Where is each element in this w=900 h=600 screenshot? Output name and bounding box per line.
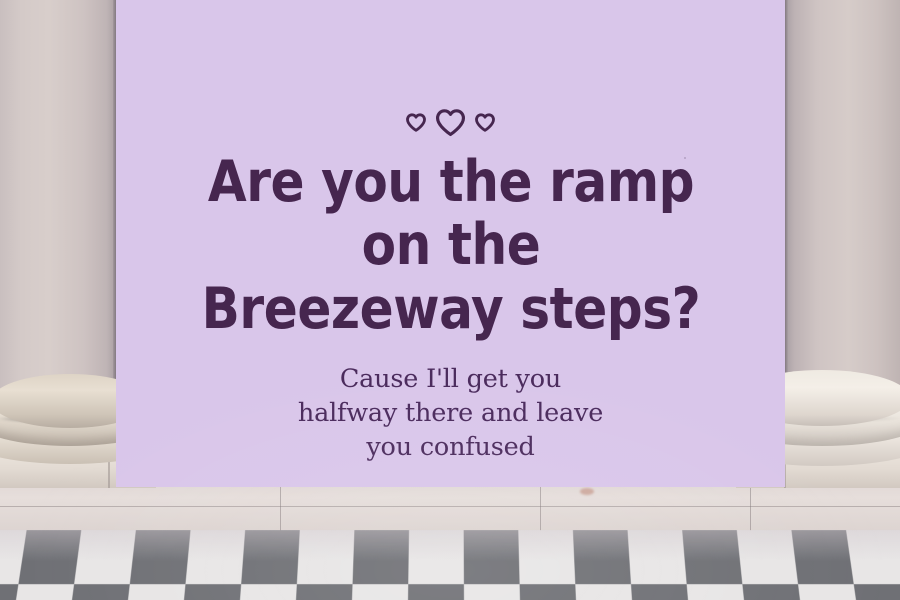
panel-speck [684,157,686,159]
quote-panel: Are you the ramp on the Breezeway steps?… [116,0,785,487]
quote-card-scene: Are you the ramp on the Breezeway steps?… [0,0,900,600]
column-shaft-right [785,0,900,412]
checkered-marble-floor [0,530,900,600]
quote-subtitle-line-2: halfway there and leave [191,397,711,431]
step-seam-horizontal [0,506,900,507]
quote-headline: Are you the ramp on the Breezeway steps? [169,151,732,341]
column-shaft-left [0,0,116,412]
quote-subtitle-line-1: Cause I'll get you [191,363,711,397]
quote-headline-line-2: Breezeway steps? [169,278,732,341]
quote-subtitle: Cause I'll get you halfway there and lea… [191,363,711,465]
heart-outline-small-right [474,113,496,132]
floor-stain [580,488,594,495]
quote-headline-line-1: Are you the ramp on the [169,151,732,276]
hearts-decoration [405,108,496,137]
heart-outline-small-left [405,113,427,132]
marble-column-left [0,0,116,600]
quote-subtitle-line-3: you confused [191,431,711,465]
marble-column-right [785,0,900,600]
heart-outline-large-center [434,108,467,137]
